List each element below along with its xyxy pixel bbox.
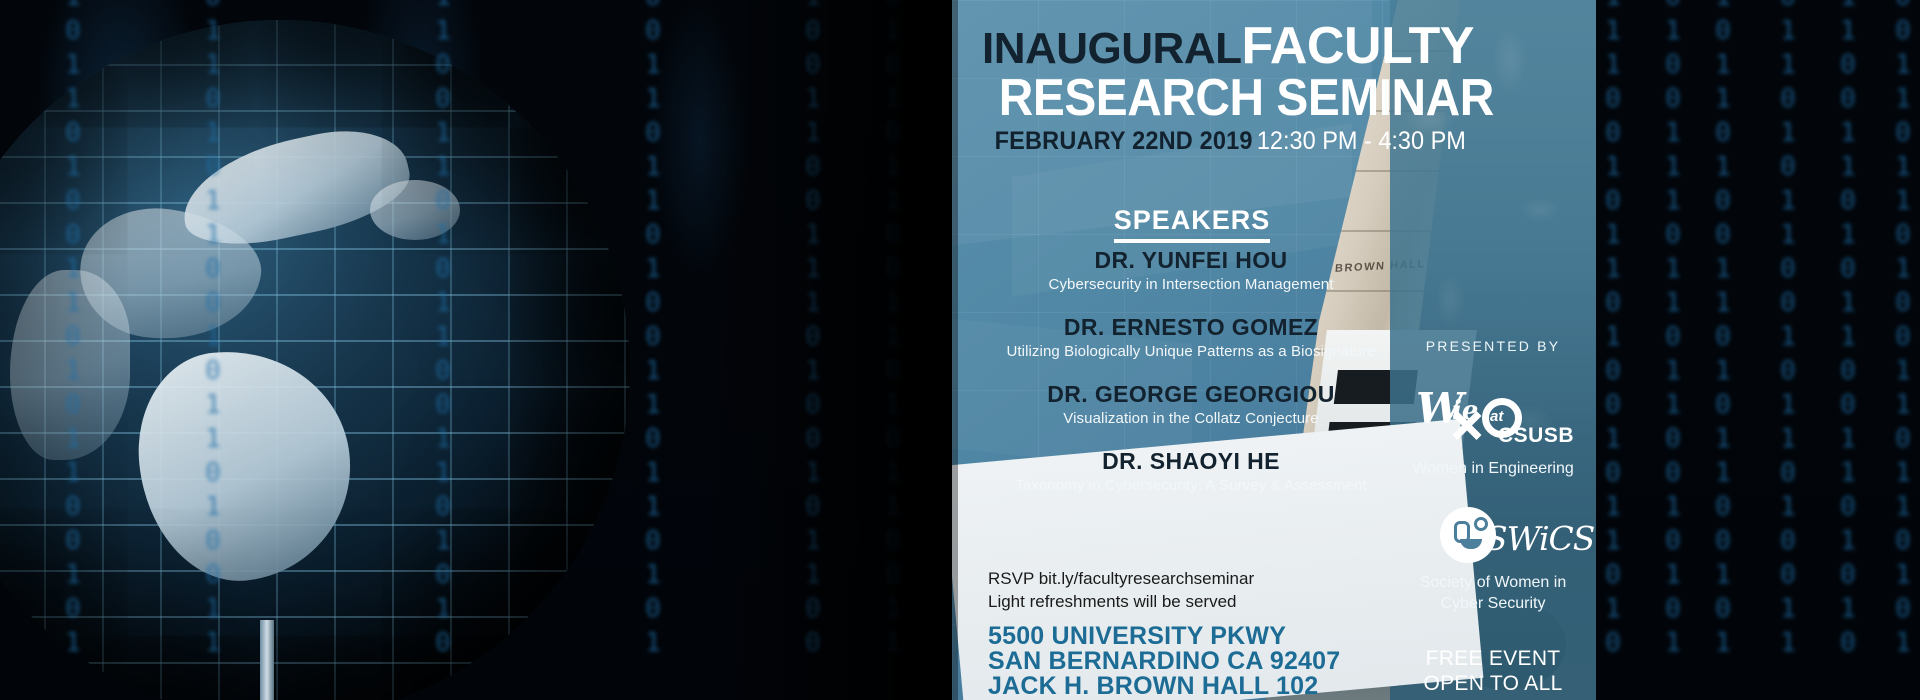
binary-column: 1 1 0 0 1 1 0 1 0 1 1 0 0 1 1 0 1 0 1 0 <box>1835 0 1861 700</box>
presented-by-label: PRESENTED BY <box>1390 338 1596 354</box>
globe-stand <box>260 620 274 700</box>
wie-at-text: at <box>1490 408 1503 425</box>
wie-caption: Women in Engineering <box>1390 460 1596 478</box>
speaker-name: DR. ERNESTO GOMEZ <box>976 315 1406 340</box>
headline-research-seminar: RESEARCH SEMINAR <box>999 71 1385 125</box>
rsvp-link-line[interactable]: RSVP bit.ly/facultyresearchseminar <box>988 567 1254 590</box>
globe-sphere <box>0 20 630 700</box>
binary-column: 0 1 1 0 1 0 1 1 0 0 1 0 1 1 0 1 0 0 1 1 <box>1775 0 1801 700</box>
binary-column: 0 1 0 0 1 1 1 0 1 1 0 1 1 0 0 1 0 1 0 1 <box>1660 0 1686 700</box>
poster-banner: 1 0 1 1 0 1 0 0 1 1 0 1 0 1 1 0 0 1 0 1 … <box>0 0 1920 700</box>
swics-logo: SWiCS <box>1390 505 1596 567</box>
speaker-name: DR. SHAOYI HE <box>976 449 1406 474</box>
address-line-3: JACK H. BROWN HALL 102 <box>988 674 1340 699</box>
speaker-item: DR. SHAOYI HE Taxonomy in Cybersecurity:… <box>976 449 1406 495</box>
speaker-topic: Taxonomy in Cybersecurity: A Survey & As… <box>976 476 1406 495</box>
binary-column: 1 1 1 0 0 1 0 1 1 0 1 0 0 1 0 1 1 0 1 0 <box>1600 0 1626 700</box>
swics-caption: Society of Women in Cyber Security <box>1390 572 1596 614</box>
rsvp-block: RSVP bit.ly/facultyresearchseminar Light… <box>988 567 1254 613</box>
binary-column: 0 0 1 1 0 1 1 0 1 0 0 1 1 0 1 1 0 1 0 1 <box>1890 0 1916 700</box>
wie-csusb-text: CSUSB <box>1498 424 1574 448</box>
event-poster: JACK H. BROWN HALL INAUGURALFACULTY RESE… <box>952 0 1596 700</box>
swics-wordmark: SWiCS <box>1485 519 1594 558</box>
binary-column: 0 1 1 0 1 0 1 1 0 0 1 0 1 1 0 1 0 0 1 1 <box>200 0 226 700</box>
binary-column: 1 0 1 1 0 1 0 0 1 1 0 1 0 1 1 0 0 1 0 1 <box>60 0 86 700</box>
speaker-item: DR. ERNESTO GOMEZ Utilizing Biologically… <box>976 315 1406 361</box>
right-background-binary: 1 1 1 0 0 1 0 1 1 0 1 0 0 1 0 1 1 0 1 0 … <box>1590 0 1920 700</box>
speaker-topic: Utilizing Biologically Unique Patterns a… <box>976 342 1406 361</box>
address-line-1: 5500 UNIVERSITY PKWY <box>988 624 1340 649</box>
headline-inaugural: INAUGURAL <box>982 24 1241 73</box>
free-event-line-1: FREE EVENT <box>1390 646 1596 671</box>
speaker-topic: Visualization in the Collatz Conjecture <box>976 409 1406 428</box>
headline-faculty: FACULTY <box>1241 17 1473 75</box>
globe-graphic <box>0 20 630 700</box>
speakers-list: DR. YUNFEI HOU Cybersecurity in Intersec… <box>976 248 1406 516</box>
speakers-heading: SPEAKERS <box>982 205 1402 243</box>
binary-column: 1 1 0 0 1 1 0 1 0 1 1 0 0 1 1 0 1 0 1 0 <box>430 0 456 700</box>
binary-column: 1 0 1 1 0 1 0 0 1 1 0 1 0 1 1 0 0 1 0 1 <box>1710 0 1736 700</box>
swics-caption-line-1: Society of Women in <box>1390 572 1596 593</box>
speaker-item: DR. YUNFEI HOU Cybersecurity in Intersec… <box>976 248 1406 294</box>
left-fade-overlay <box>700 0 960 700</box>
poster-left-edge <box>952 0 958 700</box>
event-time: 12:30 PM - 4:30 PM <box>1257 127 1466 155</box>
address-line-2: SAN BERNARDINO CA 92407 <box>988 649 1340 674</box>
left-background-globe: 1 0 1 1 0 1 0 0 1 1 0 1 0 1 1 0 0 1 0 1 … <box>0 0 960 700</box>
speaker-name: DR. YUNFEI HOU <box>976 248 1406 273</box>
speaker-topic: Cybersecurity in Intersection Management <box>976 275 1406 294</box>
free-event-line-2: OPEN TO ALL <box>1390 671 1596 696</box>
speakers-heading-label: SPEAKERS <box>1114 205 1271 243</box>
venue-address: 5500 UNIVERSITY PKWY SAN BERNARDINO CA 9… <box>988 624 1340 699</box>
globe-shading <box>0 20 630 700</box>
speaker-item: DR. GEORGE GEORGIOU Visualization in the… <box>976 382 1406 428</box>
poster-headline: INAUGURALFACULTY RESEARCH SEMINAR FEBRUA… <box>982 24 1402 156</box>
swics-caption-line-2: Cyber Security <box>1390 593 1596 614</box>
wie-csusb-logo: W ie at CSUSB <box>1390 382 1596 456</box>
binary-column: 0 0 1 1 0 1 1 0 1 0 0 1 1 0 1 1 0 1 0 1 <box>640 0 666 700</box>
free-event-note: FREE EVENT OPEN TO ALL <box>1390 646 1596 696</box>
event-date: FEBRUARY 22ND 2019 <box>995 127 1253 155</box>
refreshments-line: Light refreshments will be served <box>988 590 1254 613</box>
speaker-name: DR. GEORGE GEORGIOU <box>976 382 1406 407</box>
